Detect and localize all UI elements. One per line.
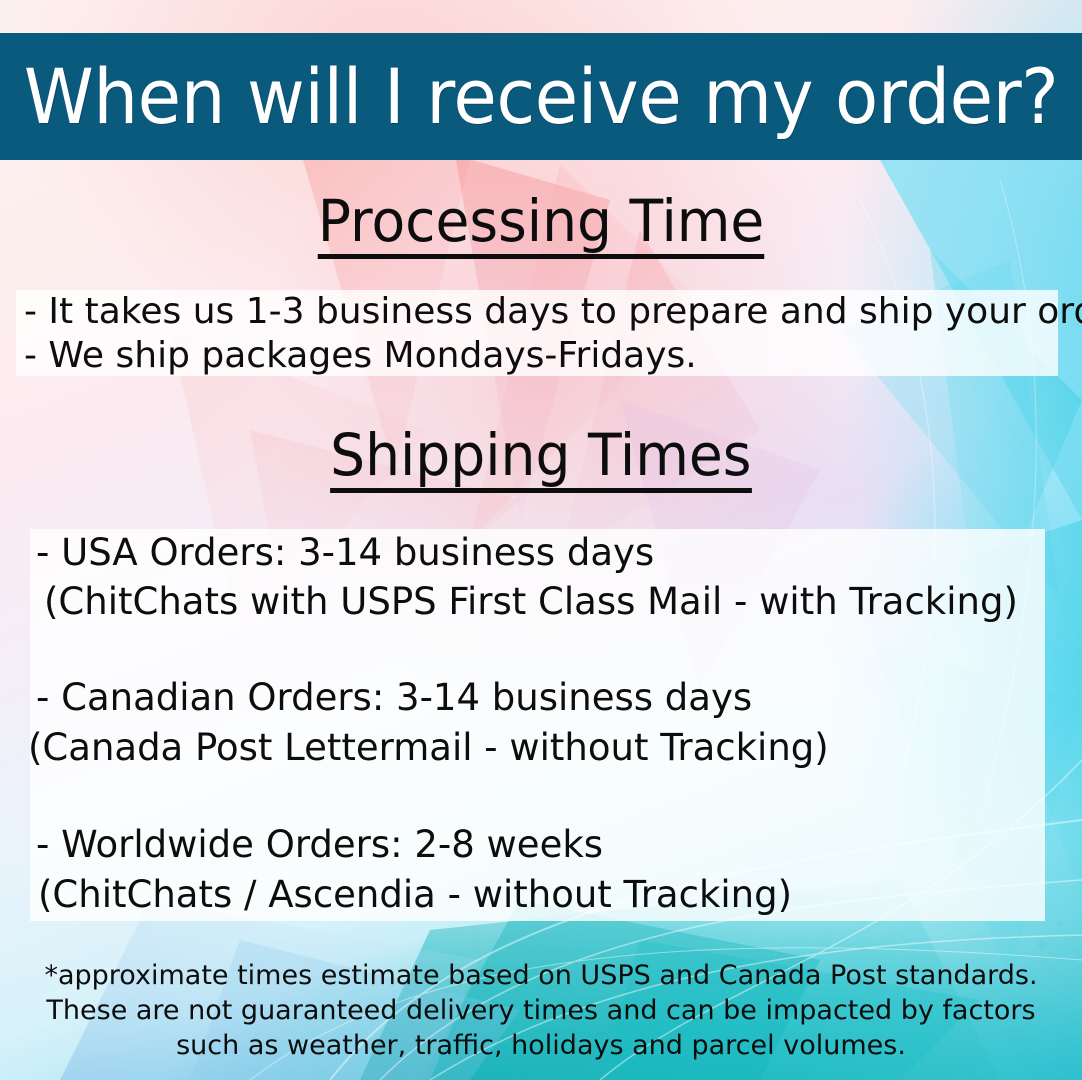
shipping-usa-orders-line: - USA Orders: 3-14 business days xyxy=(36,534,654,571)
banner-title: When will I receive my order? xyxy=(24,59,1058,135)
shipping-canadian-carrier-line: (Canada Post Lettermail - without Tracki… xyxy=(28,729,829,766)
footer-disclaimer: *approximate times estimate based on USP… xyxy=(0,958,1082,1063)
footer-line-1: *approximate times estimate based on USP… xyxy=(0,958,1082,993)
poster-root: When will I receive my order? Processing… xyxy=(0,0,1082,1080)
processing-line-1: - It takes us 1-3 business days to prepa… xyxy=(24,294,1082,330)
footer-line-2: These are not guaranteed delivery times … xyxy=(0,993,1082,1028)
shipping-canadian-orders-line: - Canadian Orders: 3-14 business days xyxy=(36,679,752,716)
section-heading-processing-time-text: Processing Time xyxy=(318,192,765,259)
footer-line-3: such as weather, traffic, holidays and p… xyxy=(0,1028,1082,1063)
section-heading-shipping-times-text: Shipping Times xyxy=(330,426,751,493)
processing-line-2: - We ship packages Mondays-Fridays. xyxy=(24,338,697,374)
header-banner: When will I receive my order? xyxy=(0,33,1082,160)
shipping-worldwide-carrier-line: (ChitChats / Ascendia - without Tracking… xyxy=(38,876,792,913)
section-heading-processing-time: Processing Time xyxy=(0,192,1082,259)
shipping-usa-carrier-line: (ChitChats with USPS First Class Mail - … xyxy=(44,583,1018,620)
section-heading-shipping-times: Shipping Times xyxy=(0,426,1082,493)
shipping-worldwide-orders-line: - Worldwide Orders: 2-8 weeks xyxy=(36,826,603,863)
